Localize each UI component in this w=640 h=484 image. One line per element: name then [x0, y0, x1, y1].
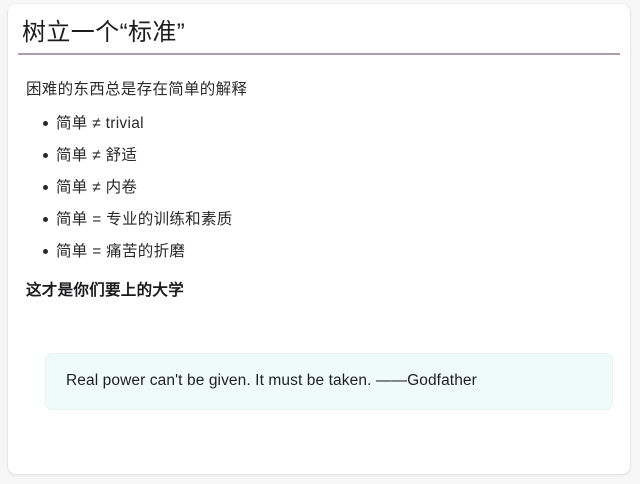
intro-paragraph: 困难的东西总是存在简单的解释	[22, 79, 616, 101]
list-item-label: 简单 = 痛苦的折磨	[56, 243, 185, 260]
list-item-label: 简单 ≠ trivial	[56, 115, 144, 132]
list-item-label: 简单 ≠ 舒适	[56, 147, 137, 164]
list-item-label: 简单 = 专业的训练和素质	[56, 211, 233, 228]
bullet-dot-icon	[43, 121, 48, 126]
list-item: 简单 = 专业的训练和素质	[22, 209, 616, 230]
bullet-dot-icon	[43, 217, 48, 222]
bullet-dot-icon	[43, 249, 48, 254]
slide-body: 困难的东西总是存在简单的解释 简单 ≠ trivial 简单 ≠ 舒适 简单 ≠…	[8, 68, 630, 302]
list-item: 简单 ≠ 舒适	[22, 145, 616, 166]
heading-block: 树立一个“标准”	[8, 4, 630, 55]
bullet-dot-icon	[43, 153, 48, 158]
page-title: 树立一个“标准”	[18, 18, 620, 52]
bullet-list: 简单 ≠ trivial 简单 ≠ 舒适 简单 ≠ 内卷 简单 = 专业的训练和…	[22, 113, 616, 262]
quote-callout: Real power can't be given. It must be ta…	[45, 353, 613, 410]
title-divider	[18, 53, 620, 55]
list-item: 简单 ≠ 内卷	[22, 177, 616, 198]
emphasis-paragraph: 这才是你们要上的大学	[22, 280, 616, 302]
quote-text: Real power can't be given. It must be ta…	[66, 371, 592, 391]
list-item-label: 简单 ≠ 内卷	[56, 179, 137, 196]
slide-card: 树立一个“标准” 困难的东西总是存在简单的解释 简单 ≠ trivial 简单 …	[8, 4, 630, 474]
bullet-dot-icon	[43, 185, 48, 190]
list-item: 简单 = 痛苦的折磨	[22, 241, 616, 262]
list-item: 简单 ≠ trivial	[22, 113, 616, 134]
